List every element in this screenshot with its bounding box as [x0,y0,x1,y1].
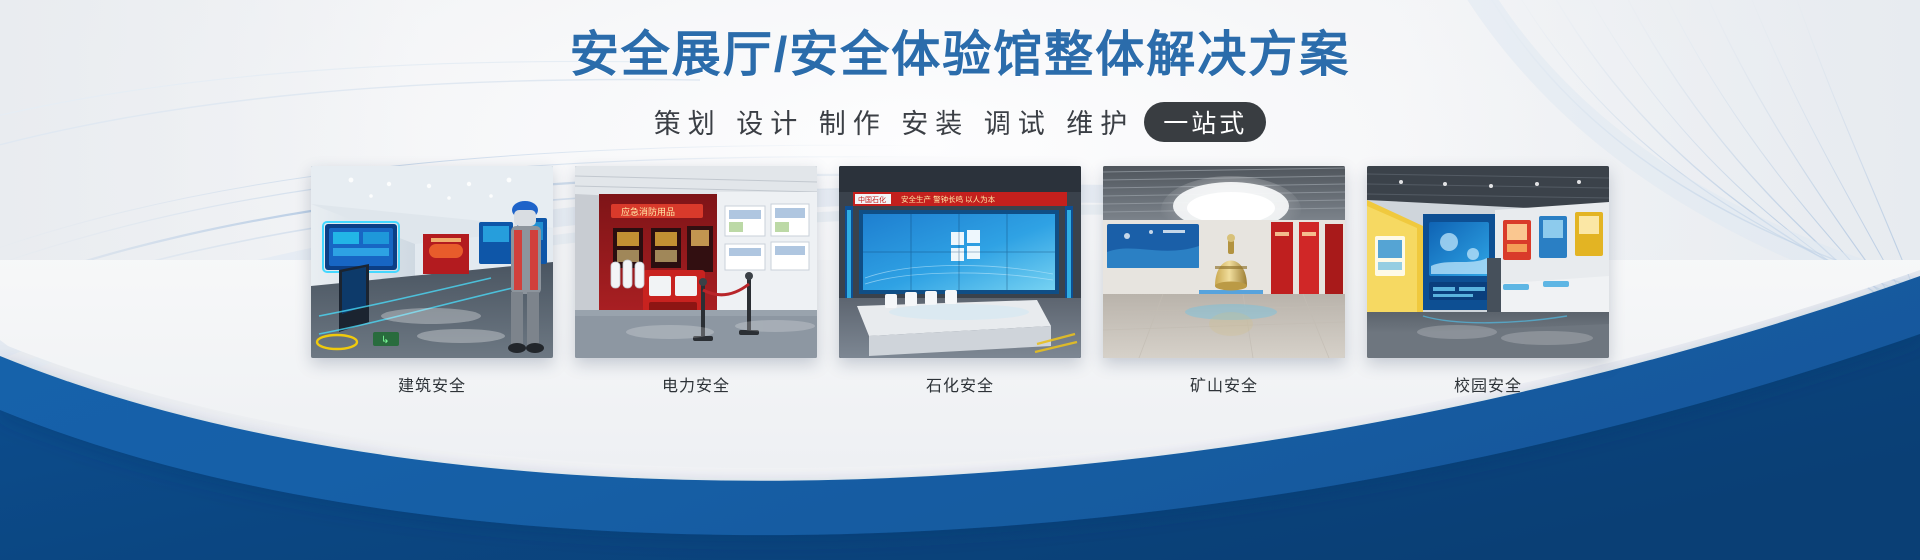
banner-content: 安全展厅/安全体验馆整体解决方案 策划 设计 制作 安装 调试 维护 一站式 [0,0,1920,560]
thumbnail-caption: 石化安全 [926,372,994,396]
thumbnail-card[interactable]: 应急消防用品 [575,166,817,396]
thumbnail-image-petrochemical[interactable]: 中国石化 安全生产 警钟长鸣 以人为本 [839,166,1081,358]
service-steps-row: 策划 设计 制作 安装 调试 维护 一站式 [654,102,1267,142]
thumbnail-caption: 校园安全 [1454,372,1522,396]
thumbnail-card[interactable]: 矿山安全 [1103,166,1345,396]
safety-exhibition-banner: 安全展厅/安全体验馆整体解决方案 策划 设计 制作 安装 调试 维护 一站式 [0,0,1920,560]
status-badge: 一站式 [1144,102,1266,142]
thumbnail-gallery: ↳ [311,166,1609,396]
svg-text:应急消防用品: 应急消防用品 [621,206,675,217]
svg-text:↳: ↳ [381,335,389,346]
thumbnail-card[interactable]: 校园安全 [1367,166,1609,396]
thumbnail-caption: 建筑安全 [398,372,466,396]
thumbnail-image-campus[interactable] [1367,166,1609,358]
thumbnail-image-power[interactable]: 应急消防用品 [575,166,817,358]
thumbnail-image-mining[interactable] [1103,166,1345,358]
svg-text:中国石化: 中国石化 [858,195,886,204]
thumbnail-card[interactable]: 中国石化 安全生产 警钟长鸣 以人为本 [839,166,1081,396]
thumbnail-caption: 矿山安全 [1190,372,1258,396]
svg-text:安全生产 警钟长鸣 以人为本: 安全生产 警钟长鸣 以人为本 [901,194,996,204]
service-steps-text: 策划 设计 制作 安装 调试 维护 [654,102,1135,141]
thumbnail-card[interactable]: ↳ [311,166,553,396]
page-title: 安全展厅/安全体验馆整体解决方案 [570,26,1351,86]
thumbnail-caption: 电力安全 [662,372,730,396]
thumbnail-image-construction[interactable]: ↳ [311,166,553,358]
